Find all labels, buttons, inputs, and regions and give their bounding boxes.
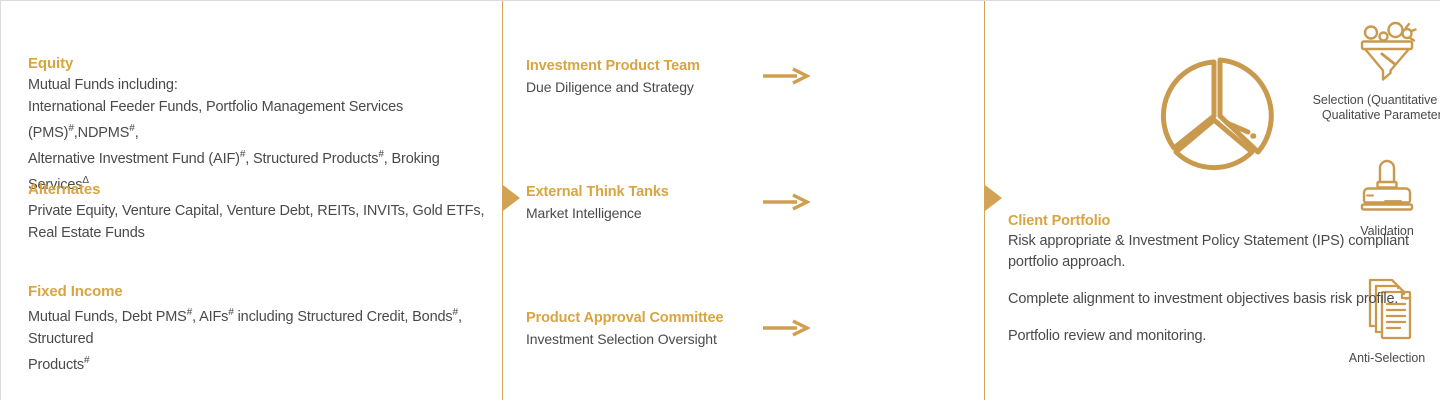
- process-column: Investment Product Team Due Diligence an…: [502, 1, 984, 400]
- process-step-title: External Think Tanks: [526, 183, 748, 202]
- asset-class-line: Mutual Funds, Debt PMS#, AIFs# including…: [28, 302, 493, 350]
- investment-process-diagram: Equity Mutual Funds including: Internati…: [0, 0, 1440, 400]
- client-portfolio-text: Client Portfolio Risk appropriate & Inve…: [1008, 211, 1428, 347]
- pie-chart-icon: [1129, 39, 1309, 199]
- asset-class-line: Private Equity, Venture Capital, Venture…: [28, 200, 493, 222]
- asset-class-title: Fixed Income: [28, 282, 493, 302]
- asset-class-title: Alternates: [28, 180, 493, 200]
- process-step-investment-product-team: Investment Product Team Due Diligence an…: [526, 57, 984, 97]
- asset-class-alternates: Alternates Private Equity, Venture Capit…: [28, 180, 493, 244]
- asset-class-line: Mutual Funds including:: [28, 74, 493, 96]
- right-arrow-icon: [763, 67, 811, 90]
- client-portfolio-paragraph: Risk appropriate & Investment Policy Sta…: [1008, 231, 1428, 273]
- asset-class-line: Real Estate Funds: [28, 222, 493, 244]
- client-portfolio-column: Client Portfolio Risk appropriate & Inve…: [984, 1, 1440, 400]
- asset-class-fixed-income: Fixed Income Mutual Funds, Debt PMS#, AI…: [28, 282, 493, 376]
- process-step-title: Investment Product Team: [526, 57, 748, 76]
- process-step-subtitle: Market Intelligence: [526, 203, 748, 223]
- client-portfolio-title: Client Portfolio: [1008, 211, 1428, 231]
- asset-class-equity: Equity Mutual Funds including: Internati…: [28, 54, 493, 195]
- process-step-subtitle: Due Diligence and Strategy: [526, 77, 748, 97]
- process-step-text: Product Approval Committee Investment Se…: [526, 309, 748, 349]
- right-arrow-icon: [763, 193, 811, 216]
- asset-classes-column: Equity Mutual Funds including: Internati…: [1, 1, 502, 400]
- process-step-product-approval-committee: Product Approval Committee Investment Se…: [526, 309, 984, 349]
- process-step-text: Investment Product Team Due Diligence an…: [526, 57, 748, 97]
- client-portfolio-paragraph: Portfolio review and monitoring.: [1008, 326, 1428, 347]
- right-arrow-icon: [763, 319, 811, 342]
- client-portfolio-paragraph: Complete alignment to investment objecti…: [1008, 289, 1428, 310]
- process-step-text: External Think Tanks Market Intelligence: [526, 183, 748, 223]
- process-step-title: Product Approval Committee: [526, 309, 748, 328]
- asset-class-line: Products#: [28, 350, 493, 376]
- process-step-external-think-tanks: External Think Tanks Market Intelligence: [526, 183, 984, 223]
- asset-class-line: International Feeder Funds, Portfolio Ma…: [28, 96, 493, 144]
- asset-class-title: Equity: [28, 54, 493, 74]
- process-step-subtitle: Investment Selection Oversight: [526, 329, 748, 349]
